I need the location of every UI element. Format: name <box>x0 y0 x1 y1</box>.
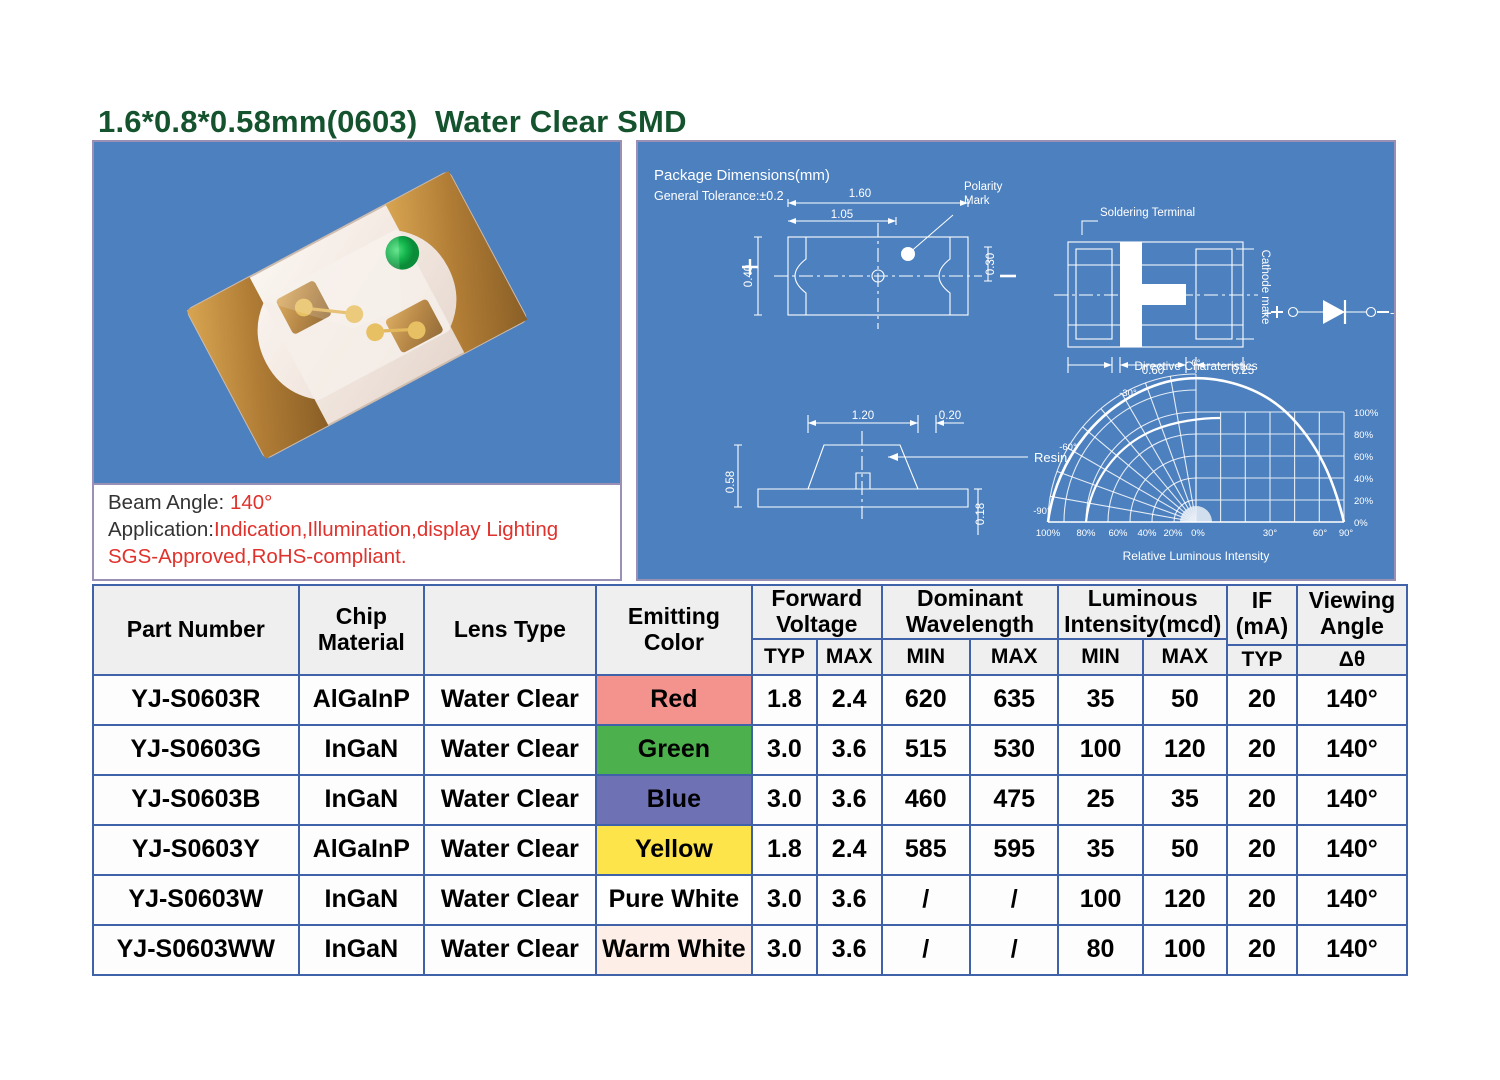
svg-text:100%: 100% <box>1036 528 1061 539</box>
cell-iv_max: 120 <box>1143 875 1227 925</box>
cell-chip: AlGaInP <box>299 675 424 725</box>
cell-wl_max: / <box>970 875 1058 925</box>
cell-chip: AlGaInP <box>299 825 424 875</box>
svg-text:40%: 40% <box>1137 528 1157 539</box>
cell-part: YJ-S0603G <box>93 725 299 775</box>
cell-iv_min: 100 <box>1058 875 1142 925</box>
application-label: Application: <box>108 518 214 541</box>
svg-text:30°: 30° <box>1263 528 1278 539</box>
cell-iv_min: 25 <box>1058 775 1142 825</box>
svg-text:Relative Luminous Intensity: Relative Luminous Intensity <box>1123 549 1270 563</box>
cell-part: YJ-S0603W <box>93 875 299 925</box>
cell-color: Green <box>596 725 752 775</box>
svg-text:1.05: 1.05 <box>831 209 853 221</box>
cell-angle: 140° <box>1297 875 1407 925</box>
cell-lens: Water Clear <box>424 875 596 925</box>
cell-iv_min: 80 <box>1058 925 1142 975</box>
cell-wl_max: / <box>970 925 1058 975</box>
svg-text:100%: 100% <box>1354 408 1379 419</box>
svg-text:1.60: 1.60 <box>849 188 871 200</box>
cell-iv_max: 35 <box>1143 775 1227 825</box>
cell-vf_typ: 1.8 <box>752 675 817 725</box>
svg-text:60°: 60° <box>1313 528 1328 539</box>
cell-part: YJ-S0603WW <box>93 925 299 975</box>
svg-text:80%: 80% <box>1076 528 1096 539</box>
led-product-photo <box>94 142 620 483</box>
table-row: YJ-S0603RAlGaInPWater ClearRed1.82.46206… <box>93 675 1407 725</box>
th-vf-max: MAX <box>817 639 882 675</box>
product-photo-panel <box>92 140 622 485</box>
table-header-row-1: Part Number ChipMaterial Lens Type Emitt… <box>93 585 1407 639</box>
svg-text:0.18: 0.18 <box>975 503 987 525</box>
th-iv-max: MAX <box>1143 639 1227 675</box>
table-body: YJ-S0603RAlGaInPWater ClearRed1.82.46206… <box>93 675 1407 975</box>
table-row: YJ-S0603WWInGaNWater ClearWarm White3.03… <box>93 925 1407 975</box>
cell-angle: 140° <box>1297 675 1407 725</box>
table-row: YJ-S0603GInGaNWater ClearGreen3.03.65155… <box>93 725 1407 775</box>
cell-vf_typ: 3.0 <box>752 725 817 775</box>
svg-text:-: - <box>1390 305 1394 320</box>
cell-lens: Water Clear <box>424 825 596 875</box>
th-vf-typ: TYP <box>752 639 817 675</box>
cell-chip: InGaN <box>299 725 424 775</box>
cell-color: Warm White <box>596 925 752 975</box>
cell-color: Yellow <box>596 825 752 875</box>
cell-vf_typ: 3.0 <box>752 925 817 975</box>
cell-wl_min: / <box>882 875 970 925</box>
svg-text:Mark: Mark <box>964 195 990 207</box>
svg-text:60%: 60% <box>1108 528 1128 539</box>
svg-text:0.30: 0.30 <box>985 253 997 275</box>
application-line: Application:Indication,Illumination,disp… <box>108 518 558 542</box>
svg-text:-90°: -90° <box>1033 506 1051 517</box>
th-viewing-angle: ViewingAngleΔθ <box>1297 585 1407 675</box>
specification-table: Part Number ChipMaterial Lens Type Emitt… <box>92 584 1408 976</box>
th-dominant-wavelength: DominantWavelength <box>882 585 1059 639</box>
svg-text:0.20: 0.20 <box>939 410 961 422</box>
cell-lens: Water Clear <box>424 925 596 975</box>
cell-vf_typ: 3.0 <box>752 875 817 925</box>
svg-text:1.20: 1.20 <box>852 410 874 422</box>
svg-text:Polarity: Polarity <box>964 181 1003 193</box>
svg-text:90°: 90° <box>1339 528 1354 539</box>
svg-text:-30°: -30° <box>1119 388 1137 399</box>
th-part-number: Part Number <box>93 585 299 675</box>
svg-text:80%: 80% <box>1354 430 1374 441</box>
cell-iv_min: 100 <box>1058 725 1142 775</box>
svg-text:20%: 20% <box>1354 496 1374 507</box>
cell-iv_max: 50 <box>1143 675 1227 725</box>
cell-iv_max: 50 <box>1143 825 1227 875</box>
page-title: 1.6*0.8*0.58mm(0603) Water Clear SMD <box>98 104 687 140</box>
th-emitting-color: EmittingColor <box>596 585 752 675</box>
cell-wl_max: 530 <box>970 725 1058 775</box>
cell-angle: 140° <box>1297 925 1407 975</box>
svg-text:0%: 0% <box>1354 518 1368 529</box>
cell-angle: 140° <box>1297 775 1407 825</box>
cell-if_typ: 20 <box>1227 775 1297 825</box>
svg-text:-60°: -60° <box>1059 442 1077 453</box>
th-iv-min: MIN <box>1058 639 1142 675</box>
cell-if_typ: 20 <box>1227 825 1297 875</box>
th-wl-max: MAX <box>970 639 1058 675</box>
cell-lens: Water Clear <box>424 675 596 725</box>
cell-if_typ: 20 <box>1227 675 1297 725</box>
beam-angle-label: Beam Angle: <box>108 491 230 514</box>
cell-chip: InGaN <box>299 875 424 925</box>
cell-vf_max: 3.6 <box>817 925 882 975</box>
th-luminous-intensity: LuminousIntensity(mcd) <box>1058 585 1227 639</box>
cell-chip: InGaN <box>299 775 424 825</box>
cell-part: YJ-S0603B <box>93 775 299 825</box>
product-info-panel: Beam Angle: 140° Application:Indication,… <box>92 485 622 581</box>
cell-iv_max: 100 <box>1143 925 1227 975</box>
th-chip-material: ChipMaterial <box>299 585 424 675</box>
table-row: YJ-S0603YAlGaInPWater ClearYellow1.82.45… <box>93 825 1407 875</box>
svg-text:40%: 40% <box>1354 474 1374 485</box>
package-drawing-panel: Package Dimensions(mm) General Tolerance… <box>636 140 1396 581</box>
cell-iv_min: 35 <box>1058 825 1142 875</box>
svg-text:60%: 60% <box>1354 452 1374 463</box>
cell-color: Blue <box>596 775 752 825</box>
cell-wl_max: 475 <box>970 775 1058 825</box>
svg-text:General Tolerance:±0.2: General Tolerance:±0.2 <box>654 189 784 203</box>
cell-vf_typ: 3.0 <box>752 775 817 825</box>
cell-lens: Water Clear <box>424 775 596 825</box>
th-wl-min: MIN <box>882 639 970 675</box>
cell-vf_typ: 1.8 <box>752 825 817 875</box>
cell-wl_min: 585 <box>882 825 970 875</box>
th-forward-voltage: ForwardVoltage <box>752 585 882 639</box>
cell-angle: 140° <box>1297 825 1407 875</box>
cell-wl_max: 595 <box>970 825 1058 875</box>
application-value: Indication,Illumination,display Lighting <box>214 518 558 541</box>
cell-iv_min: 35 <box>1058 675 1142 725</box>
cell-wl_min: / <box>882 925 970 975</box>
svg-text:20%: 20% <box>1163 528 1183 539</box>
package-drawing-svg: Package Dimensions(mm) General Tolerance… <box>638 142 1394 579</box>
compliance-line: SGS-Approved,RoHS-compliant. <box>108 545 407 569</box>
drawing-heading: Package Dimensions(mm) <box>654 167 830 184</box>
cell-vf_max: 3.6 <box>817 875 882 925</box>
cell-part: YJ-S0603Y <box>93 825 299 875</box>
cell-lens: Water Clear <box>424 725 596 775</box>
th-lens-type: Lens Type <box>424 585 596 675</box>
cell-vf_max: 3.6 <box>817 775 882 825</box>
cell-wl_min: 620 <box>882 675 970 725</box>
cell-color: Red <box>596 675 752 725</box>
cell-if_typ: 20 <box>1227 725 1297 775</box>
cell-vf_max: 2.4 <box>817 825 882 875</box>
datasheet-page: 1.6*0.8*0.58mm(0603) Water Clear SMD <box>0 0 1500 1080</box>
cell-angle: 140° <box>1297 725 1407 775</box>
cell-color: Pure White <box>596 875 752 925</box>
table-header: Part Number ChipMaterial Lens Type Emitt… <box>93 585 1407 675</box>
svg-text:+: + <box>1264 305 1272 320</box>
svg-text:0.58: 0.58 <box>725 471 737 493</box>
th-if: IF(mA)TYP <box>1227 585 1297 675</box>
table-row: YJ-S0603WInGaNWater ClearPure White3.03.… <box>93 875 1407 925</box>
svg-text:0%: 0% <box>1191 528 1205 539</box>
cell-part: YJ-S0603R <box>93 675 299 725</box>
cell-wl_min: 515 <box>882 725 970 775</box>
cell-vf_max: 2.4 <box>817 675 882 725</box>
svg-text:0°: 0° <box>1191 358 1200 369</box>
table-row: YJ-S0603BInGaNWater ClearBlue3.03.646047… <box>93 775 1407 825</box>
cell-chip: InGaN <box>299 925 424 975</box>
cell-iv_max: 120 <box>1143 725 1227 775</box>
cell-vf_max: 3.6 <box>817 725 882 775</box>
beam-angle-line: Beam Angle: 140° <box>108 491 272 515</box>
svg-text:Soldering Terminal: Soldering Terminal <box>1100 207 1195 219</box>
cell-wl_max: 635 <box>970 675 1058 725</box>
cell-wl_min: 460 <box>882 775 970 825</box>
beam-angle-value: 140° <box>230 491 272 514</box>
svg-text:0.40: 0.40 <box>743 265 755 287</box>
cell-if_typ: 20 <box>1227 875 1297 925</box>
cell-if_typ: 20 <box>1227 925 1297 975</box>
